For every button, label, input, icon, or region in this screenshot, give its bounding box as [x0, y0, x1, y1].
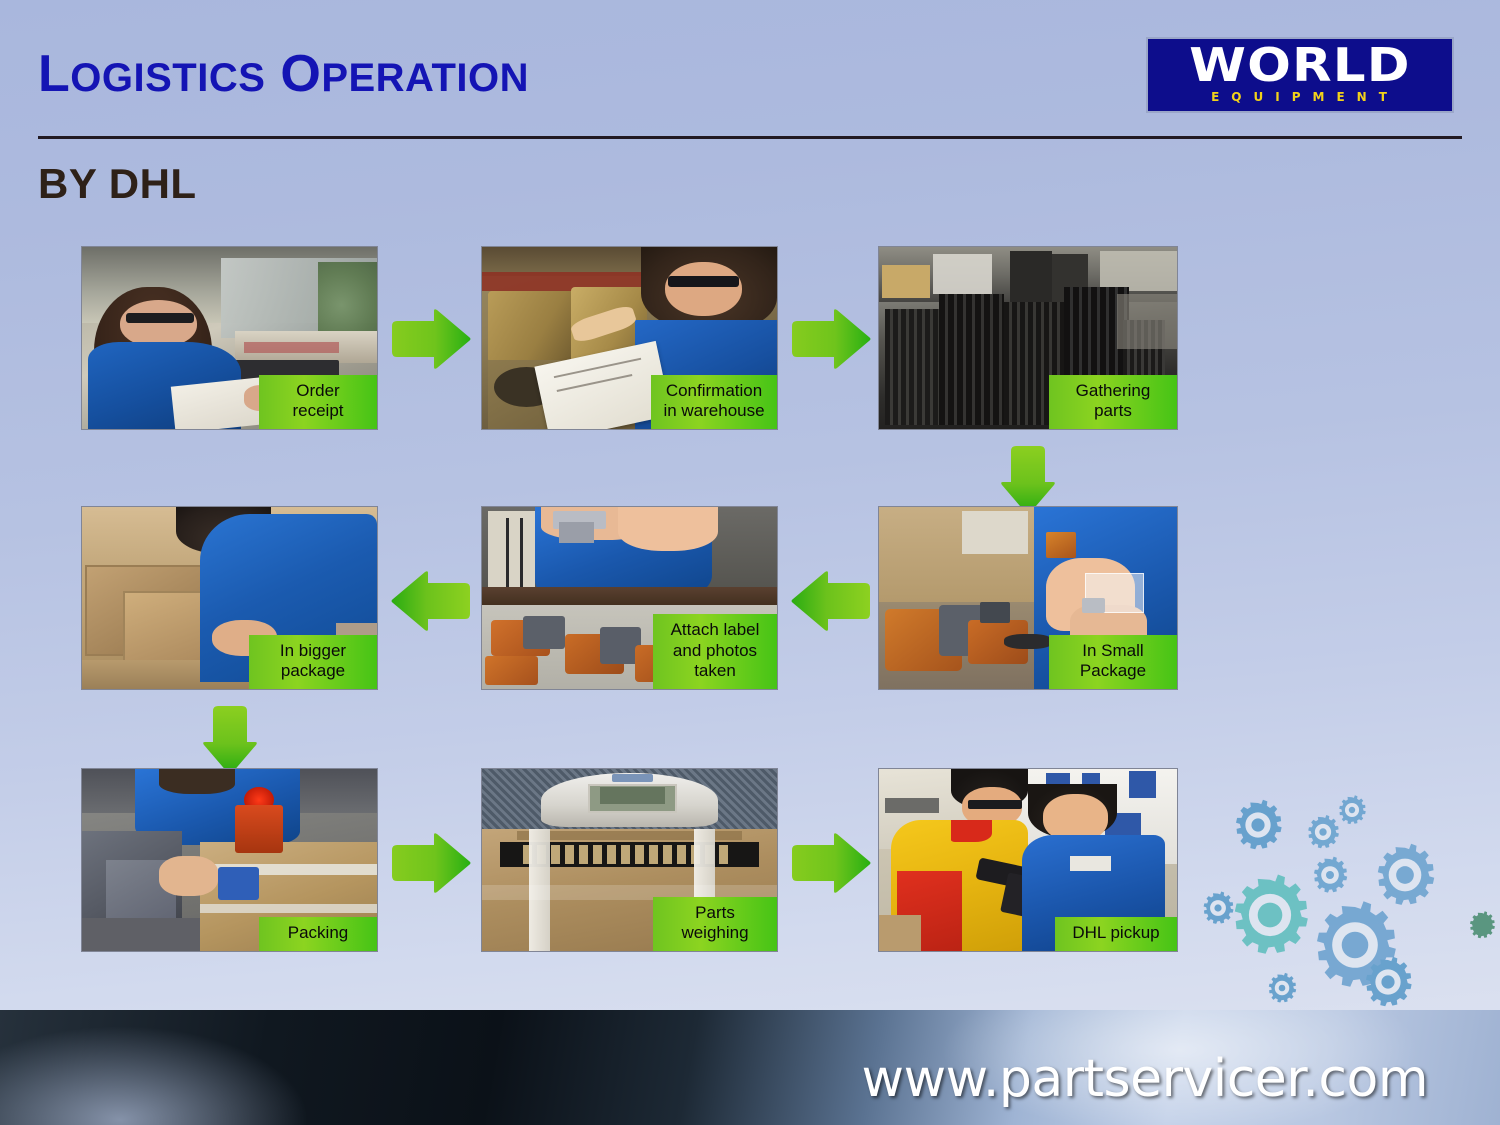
step-photo-confirmation[interactable]: Confirmation in warehouse [481, 246, 778, 430]
step-caption-gathering-parts: Gathering parts [1049, 375, 1177, 429]
arrow-left-1 [790, 570, 872, 632]
step-caption-parts-weighing: Parts weighing [653, 897, 777, 951]
step-photo-parts-weighing[interactable]: Parts weighing [481, 768, 778, 952]
arrow-left-2 [390, 570, 472, 632]
title-cap-2: O [280, 45, 321, 103]
gears-decoration [1200, 770, 1500, 1020]
step-photo-attach-label[interactable]: Attach label and photos taken [481, 506, 778, 690]
step-caption-order-receipt: Order receipt [259, 375, 377, 429]
footer-band: www.partservicer.com [0, 1010, 1500, 1125]
step-caption-attach-label: Attach label and photos taken [653, 614, 777, 689]
title-cap-1: L [38, 45, 70, 103]
step-caption-in-small-package: In Small Package [1049, 635, 1177, 689]
world-equipment-logo: WORLD EQUIPMENT [1146, 37, 1454, 113]
arrow-right-4 [790, 832, 872, 894]
arrow-down-2 [202, 704, 258, 776]
step-caption-confirmation: Confirmation in warehouse [651, 375, 777, 429]
step-photo-dhl-pickup[interactable]: DHL pickup [878, 768, 1178, 952]
title-rest-1: OGISTICS [70, 56, 265, 100]
step-caption-dhl-pickup: DHL pickup [1055, 917, 1177, 951]
subtitle: BY DHL [38, 160, 197, 208]
step-photo-in-bigger-package[interactable]: In bigger package [81, 506, 378, 690]
title-divider [38, 136, 1462, 139]
page-title: LOGISTICS OPERATION [38, 48, 1138, 101]
step-photo-gathering-parts[interactable]: Gathering parts [878, 246, 1178, 430]
step-photo-packing[interactable]: Packing [81, 768, 378, 952]
arrow-right-2 [790, 308, 872, 370]
step-caption-packing: Packing [259, 917, 377, 951]
step-photo-order-receipt[interactable]: Order receipt [81, 246, 378, 430]
slide: LOGISTICS OPERATION BY DHL WORLD EQUIPME… [0, 0, 1500, 1125]
arrow-right-3 [390, 832, 472, 894]
step-photo-in-small-package[interactable]: In Small Package [878, 506, 1178, 690]
title-rest-2: PERATION [321, 56, 529, 100]
footer-url: www.partservicer.com [862, 1049, 1428, 1109]
arrow-right-1 [390, 308, 472, 370]
logo-brand-text: WORLD [1189, 44, 1410, 88]
step-caption-in-bigger-package: In bigger package [249, 635, 377, 689]
